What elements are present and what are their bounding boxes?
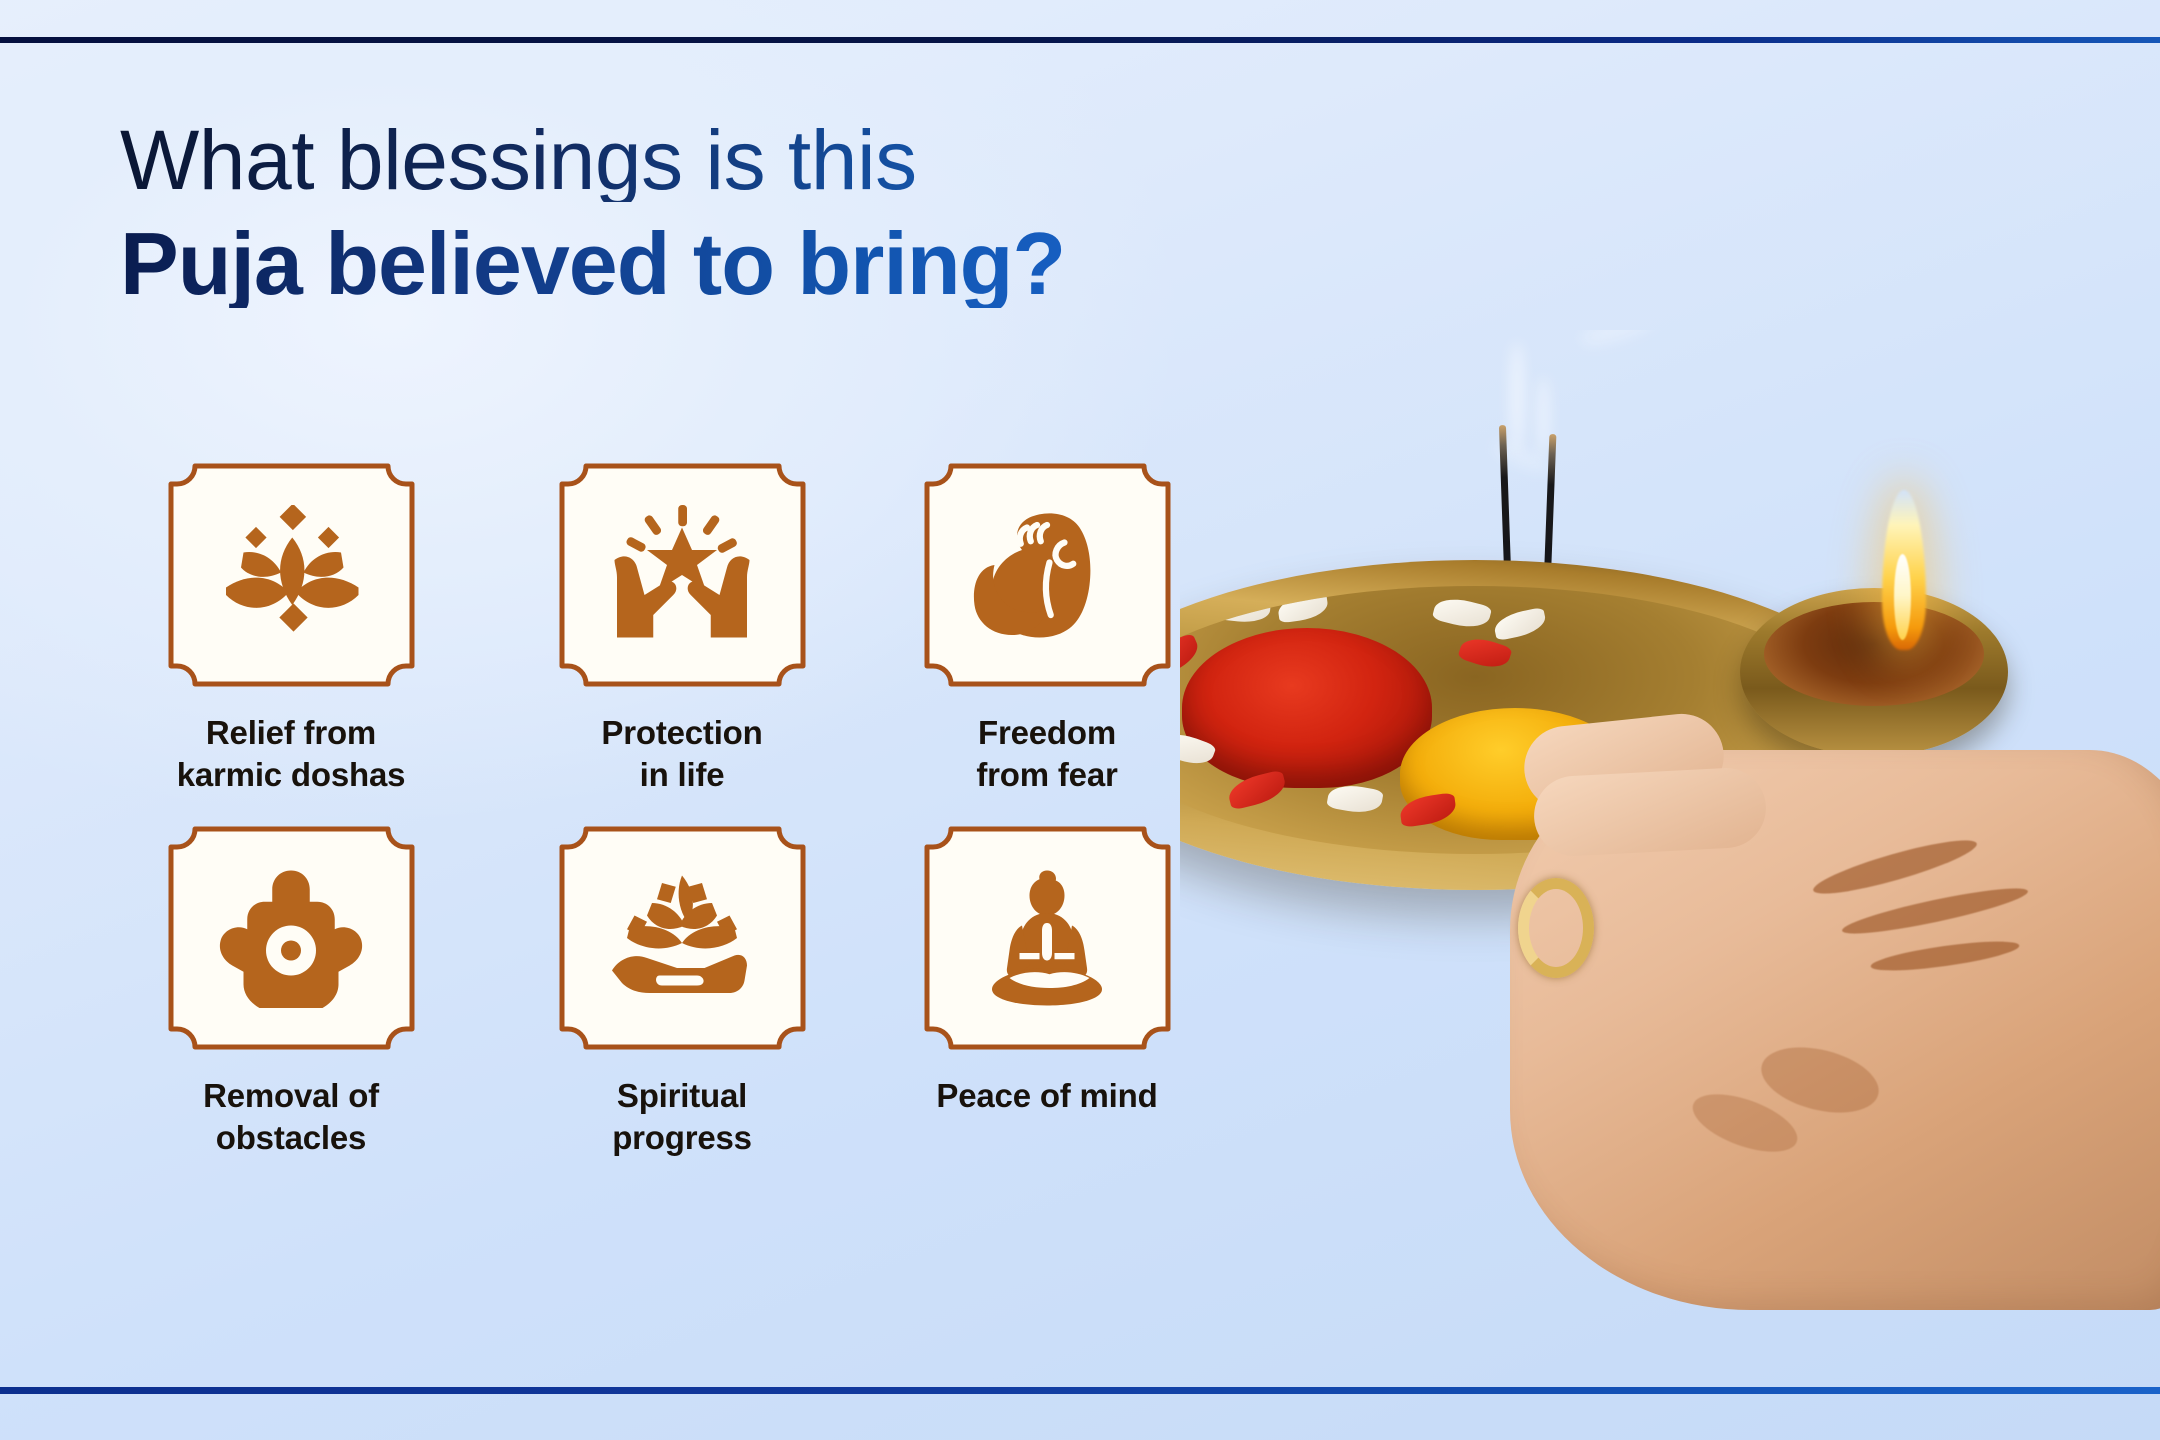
benefit-card: [556, 460, 809, 690]
red-kumkum-powder: [1182, 628, 1432, 788]
benefit-card: [556, 823, 809, 1053]
benefit-label-line-2: karmic doshas: [177, 754, 406, 796]
benefit-card: [165, 823, 418, 1053]
flame-core: [1894, 554, 1911, 640]
benefit-label: Relief from karmic doshas: [177, 712, 406, 795]
benefits-row-1: Relief from karmic doshas: [96, 460, 1216, 795]
benefit-item-relief-from-karmic-doshas[interactable]: Relief from karmic doshas: [96, 460, 486, 795]
incense-smoke: [1538, 376, 1549, 456]
benefit-label-line-1: Removal of: [203, 1075, 379, 1117]
benefit-label-line-1: Peace of mind: [936, 1075, 1157, 1117]
benefits-grid: Relief from karmic doshas: [96, 460, 1216, 1158]
benefit-card: [921, 823, 1174, 1053]
henna-decorated-hand: [1510, 750, 2160, 1310]
benefit-label-line-1: Freedom: [976, 712, 1117, 754]
benefit-label: Peace of mind: [936, 1075, 1157, 1117]
benefit-label-line-1: Protection: [601, 712, 762, 754]
hand-holding-puja-thali-photo: [1180, 330, 2160, 1410]
incense-smoke: [1510, 342, 1524, 452]
hand-holding-lotus-icon: [607, 868, 757, 1008]
meditating-person-icon: [972, 868, 1122, 1008]
infographic-canvas: What blessings is this Puja believed to …: [0, 0, 2160, 1440]
benefits-row-2: Removal of obstacles: [96, 823, 1216, 1158]
headline-line-1: What blessings is this: [120, 118, 1300, 202]
benefit-label-line-1: Spiritual: [612, 1075, 752, 1117]
henna-pattern: [1810, 831, 1981, 903]
henna-pattern: [1840, 880, 2030, 941]
benefit-item-removal-of-obstacles[interactable]: Removal of obstacles: [96, 823, 486, 1158]
white-petal: [1432, 594, 1493, 633]
benefit-card: [165, 460, 418, 690]
henna-pattern: [1869, 936, 2020, 977]
benefit-label-line-1: Relief from: [177, 712, 406, 754]
benefit-label: Spiritual progress: [612, 1075, 752, 1158]
white-petal: [1180, 596, 1219, 637]
finger: [1532, 766, 1768, 858]
incense-smoke: [1577, 330, 1660, 352]
hamsa-hand-icon: [216, 868, 366, 1008]
brass-diya-lamp: [1740, 588, 2008, 756]
benefit-label-line-2: in life: [601, 754, 762, 796]
benefit-item-protection-in-life[interactable]: Protection in life: [486, 460, 878, 795]
benefit-label-line-2: from fear: [976, 754, 1117, 796]
benefit-label: Freedom from fear: [976, 712, 1117, 795]
headline-line-2: Puja believed to bring?: [120, 220, 1300, 308]
top-divider-rule: [0, 37, 2160, 43]
white-petal: [1217, 595, 1271, 624]
benefit-label: Protection in life: [601, 712, 762, 795]
flexed-bicep-icon: [972, 505, 1122, 645]
diya-oil-bowl: [1764, 602, 1984, 706]
bottom-divider-rule: [0, 1387, 2160, 1394]
benefit-item-freedom-from-fear[interactable]: Freedom from fear: [878, 460, 1216, 795]
benefit-label: Removal of obstacles: [203, 1075, 379, 1158]
gold-ring: [1518, 878, 1594, 978]
hands-holding-star-icon: [607, 505, 757, 645]
lotus-sparkle-icon: [216, 505, 366, 645]
white-petal: [1492, 607, 1548, 641]
benefit-label-line-2: obstacles: [203, 1117, 379, 1159]
benefit-label-line-2: progress: [612, 1117, 752, 1159]
white-petal: [1277, 593, 1330, 624]
benefit-item-peace-of-mind[interactable]: Peace of mind: [878, 823, 1216, 1158]
benefit-card: [921, 460, 1174, 690]
headline-block: What blessings is this Puja believed to …: [120, 118, 1300, 308]
benefit-item-spiritual-progress[interactable]: Spiritual progress: [486, 823, 878, 1158]
